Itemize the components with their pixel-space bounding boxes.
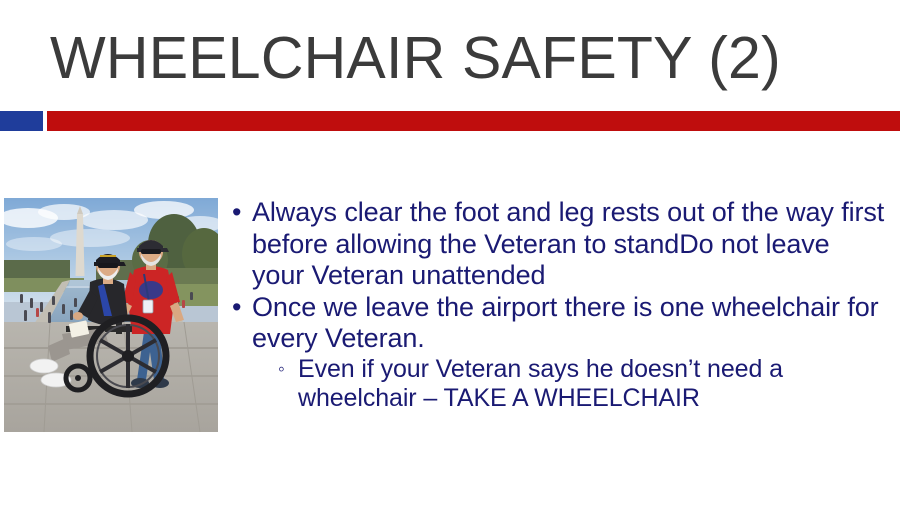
divider-blue-block (0, 111, 43, 131)
bullet-text: Always clear the foot and leg rests out … (252, 197, 888, 292)
bullet-marker-hollow: ◦ (278, 355, 285, 384)
bullet-list: • Always clear the foot and leg rests ou… (228, 197, 888, 414)
page-title: WHEELCHAIR SAFETY (2) (50, 28, 850, 90)
list-item: • Always clear the foot and leg rests ou… (228, 197, 888, 292)
slide-photo (4, 198, 218, 432)
list-item-sub: ◦ Even if your Veteran says he doesn’t n… (228, 355, 888, 414)
photo-illustration (4, 198, 218, 432)
bullet-marker: • (232, 197, 241, 229)
slide-canvas: WHEELCHAIR SAFETY (2) (0, 0, 900, 515)
divider-red-bar (47, 111, 900, 131)
bullet-text: Once we leave the airport there is one w… (252, 292, 888, 355)
accent-divider (0, 111, 900, 131)
bullet-text: Even if your Veteran says he doesn’t nee… (298, 355, 888, 414)
bullet-marker: • (232, 292, 241, 324)
list-item: • Once we leave the airport there is one… (228, 292, 888, 355)
